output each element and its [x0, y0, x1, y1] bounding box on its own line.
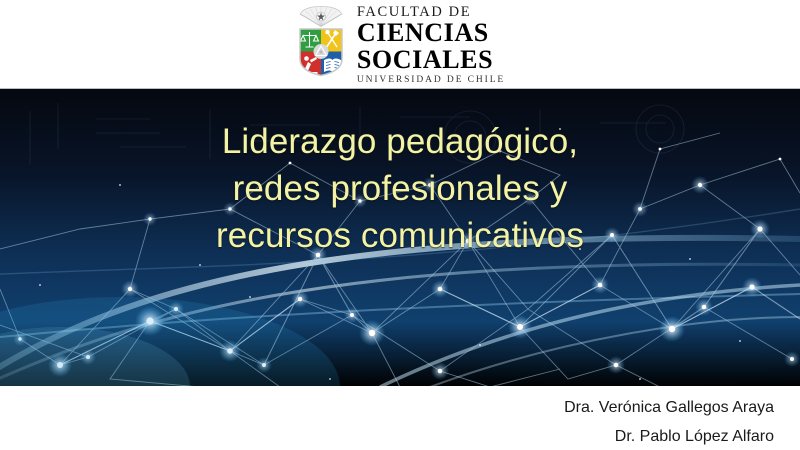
crest-shield-icon — [298, 27, 344, 77]
author-name-primary: Dra. Verónica Gallegos Araya — [564, 393, 774, 422]
global-network-background-image — [0, 88, 800, 386]
presentation-slide: FACULTAD DE CIENCIAS SOCIALES UNIVERSIDA… — [0, 0, 800, 450]
logo-line-facultad-de: FACULTAD DE — [357, 5, 505, 20]
university-of-chile-crest-icon — [295, 5, 347, 83]
logo-line-sociales: SOCIALES — [357, 47, 505, 73]
logo-line-ciencias: CIENCIAS — [357, 20, 505, 46]
network-graphic — [0, 89, 800, 386]
open-book-icon — [324, 59, 341, 73]
author-name-secondary: Dr. Pablo López Alfaro — [564, 422, 774, 450]
triangle-with-eye-icon — [313, 44, 328, 59]
logo-wordmark: FACULTAD DE CIENCIAS SOCIALES UNIVERSIDA… — [357, 3, 505, 86]
logo-header: FACULTAD DE CIENCIAS SOCIALES UNIVERSIDA… — [0, 0, 800, 88]
logo-line-universidad-de-chile: UNIVERSIDAD DE CHILE — [357, 76, 505, 86]
authors-block: Dra. Verónica Gallegos Araya Dr. Pablo L… — [564, 393, 774, 450]
sunburst-fan-icon — [298, 6, 344, 28]
